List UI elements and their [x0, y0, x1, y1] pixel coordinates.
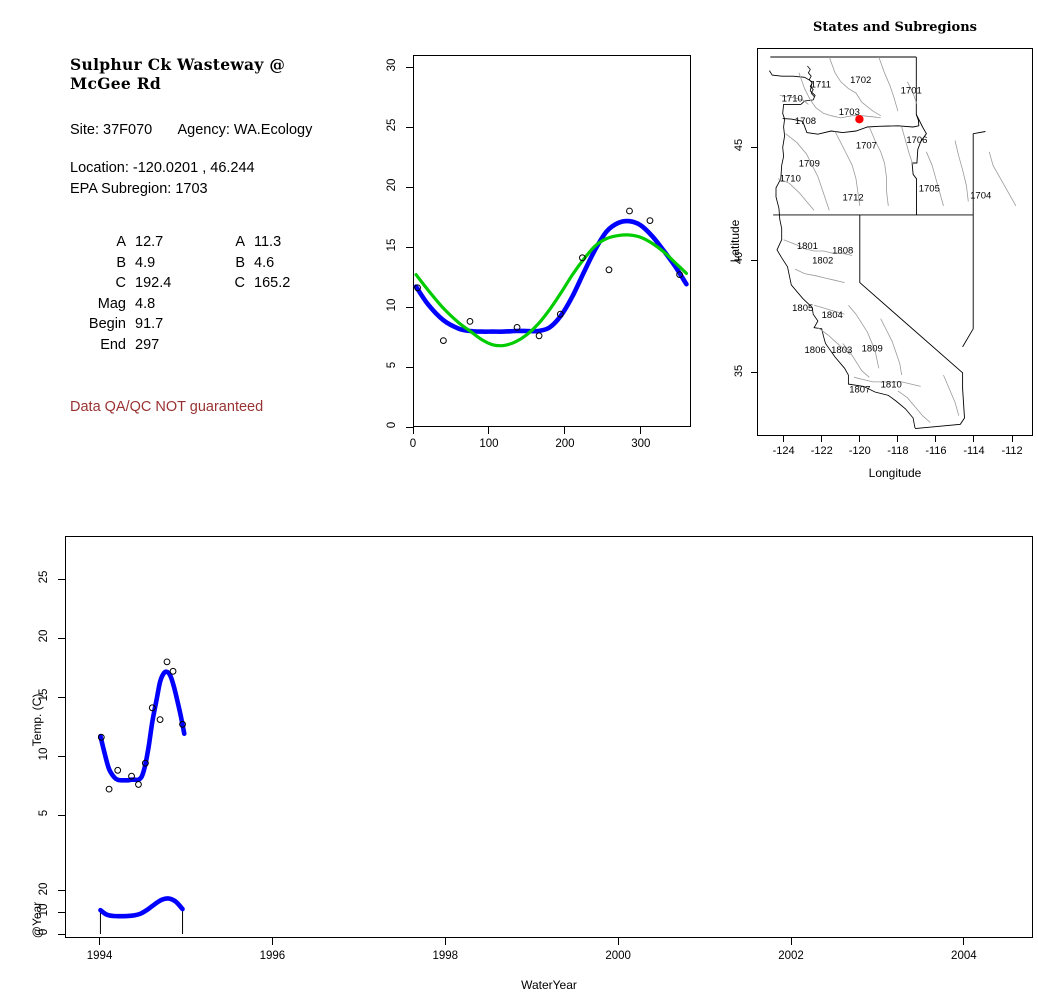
stats-value: 91.7 [135, 314, 211, 335]
epa-subregion-label: EPA Subregion: 1703 [70, 179, 370, 199]
timeseries-temp-y-tick [58, 815, 65, 816]
map-y-tick [751, 260, 757, 261]
stats-value: 4.8 [135, 294, 211, 315]
timeseries-annual-yaxis-title: @Year [30, 880, 44, 960]
stats-label-2: B [211, 253, 254, 274]
timeseries-x-tick [99, 938, 100, 945]
timeseries-x-tick [963, 938, 964, 945]
map-x-tick [973, 436, 974, 442]
site-id-label: Site: 37F070 [70, 122, 152, 138]
timeseries-frame [65, 536, 1033, 938]
stats-row: Begin91.7 [70, 314, 290, 335]
seasonal-y-tick-label: 30 [386, 54, 398, 76]
seasonal-y-tick [406, 187, 413, 188]
map-xaxis-title: Longitude [869, 466, 922, 480]
seasonal-y-tick-label: 25 [386, 114, 398, 136]
stats-value: 192.4 [135, 273, 211, 294]
stats-value: 4.9 [135, 253, 211, 274]
qaqc-warning: Data QA/QC NOT guaranteed [70, 399, 370, 415]
stats-label: A [70, 232, 135, 253]
seasonal-x-tick [413, 427, 414, 434]
timeseries-x-tick-label: 2002 [765, 950, 817, 962]
site-agency-line: Site: 37F070 Agency: WA.Ecology [70, 120, 370, 140]
seasonal-x-tick-label: 200 [543, 438, 587, 450]
map-frame [757, 48, 1033, 436]
stats-label-2 [211, 294, 254, 315]
map-yaxis-title: Latitude [728, 201, 742, 281]
timeseries-x-tick-label: 1996 [246, 950, 298, 962]
seasonal-x-tick [488, 427, 489, 434]
timeseries-x-tick-label: 2004 [938, 950, 990, 962]
timeseries-x-tick [618, 938, 619, 945]
stats-value-2 [254, 314, 290, 335]
map-x-tick [859, 436, 860, 442]
timeseries-x-tick-label: 1994 [74, 950, 126, 962]
timeseries-temp-y-tick-label: 5 [38, 802, 50, 824]
seasonal-x-tick-label: 300 [619, 438, 663, 450]
seasonal-y-tick-label: 5 [386, 354, 398, 376]
map-title: States and Subregions [813, 20, 977, 35]
stats-row: C192.4C165.2 [70, 273, 290, 294]
stats-row: Mag4.8 [70, 294, 290, 315]
seasonal-plot-frame [413, 55, 691, 427]
map-x-tick [821, 436, 822, 442]
stats-table: A12.7A11.3B4.9B4.6C192.4C165.2Mag4.8Begi… [70, 232, 370, 355]
stats-value-2 [254, 294, 290, 315]
map-x-tick [783, 436, 784, 442]
seasonal-y-tick [406, 307, 413, 308]
seasonal-x-tick-label: 100 [467, 438, 511, 450]
map-x-tick [935, 436, 936, 442]
timeseries-x-tick-label: 1998 [419, 950, 471, 962]
map-y-tick-label: 35 [733, 361, 745, 381]
timeseries-annual-y-tick [58, 890, 65, 891]
timeseries-temp-y-tick [58, 756, 65, 757]
seasonal-y-tick-label: 15 [386, 234, 398, 256]
map-x-tick [897, 436, 898, 442]
timeseries-annual-y-tick [58, 934, 65, 935]
stats-row: End297 [70, 335, 290, 356]
timeseries-x-tick [791, 938, 792, 945]
location-label: Location: -120.0201 , 46.244 [70, 158, 370, 178]
seasonal-y-tick-label: 20 [386, 174, 398, 196]
agency-label: Agency: WA.Ecology [178, 122, 313, 138]
timeseries-x-tick [272, 938, 273, 945]
map-y-tick-label: 45 [733, 135, 745, 155]
map-y-tick [751, 372, 757, 373]
timeseries-annual-y-tick [58, 912, 65, 913]
seasonal-y-tick-label: 10 [386, 294, 398, 316]
stats-label: Mag [70, 294, 135, 315]
stats-label: C [70, 273, 135, 294]
stats-value-2 [254, 335, 290, 356]
stats-grid: A12.7A11.3B4.9B4.6C192.4C165.2Mag4.8Begi… [70, 232, 290, 355]
timeseries-temp-y-tick-label: 20 [38, 625, 50, 647]
seasonal-x-tick-label: 0 [391, 438, 435, 450]
timeseries-temp-y-tick-label: 25 [38, 566, 50, 588]
stats-row: A12.7A11.3 [70, 232, 290, 253]
timeseries-temp-yaxis-title: Temp. (C) [30, 680, 44, 760]
seasonal-y-tick [406, 127, 413, 128]
stats-value: 297 [135, 335, 211, 356]
stats-label-2 [211, 335, 254, 356]
site-info-panel: Sulphur Ck Wasteway @ McGee Rd Site: 37F… [70, 55, 370, 415]
stats-label-2 [211, 314, 254, 335]
stats-value: 12.7 [135, 232, 211, 253]
stats-value-2: 165.2 [254, 273, 290, 294]
timeseries-x-tick [445, 938, 446, 945]
map-x-tick-label: -112 [990, 445, 1034, 457]
seasonal-y-tick-label: 0 [386, 414, 398, 436]
timeseries-xaxis-title: WaterYear [521, 978, 577, 992]
timeseries-x-tick-label: 2000 [592, 950, 644, 962]
stats-value-2: 11.3 [254, 232, 290, 253]
seasonal-y-tick [406, 67, 413, 68]
stats-value-2: 4.6 [254, 253, 290, 274]
stats-label-2: C [211, 273, 254, 294]
stats-row: B4.9B4.6 [70, 253, 290, 274]
stats-label-2: A [211, 232, 254, 253]
seasonal-y-tick [406, 367, 413, 368]
stats-label: Begin [70, 314, 135, 335]
seasonal-x-tick [640, 427, 641, 434]
seasonal-y-tick [406, 247, 413, 248]
map-y-tick [751, 147, 757, 148]
page-title: Sulphur Ck Wasteway @ McGee Rd [70, 55, 370, 93]
stats-label: B [70, 253, 135, 274]
seasonal-x-tick [564, 427, 565, 434]
timeseries-temp-y-tick [58, 697, 65, 698]
map-x-tick [1012, 436, 1013, 442]
timeseries-temp-y-tick [58, 638, 65, 639]
timeseries-temp-y-tick [58, 579, 65, 580]
stats-label: End [70, 335, 135, 356]
